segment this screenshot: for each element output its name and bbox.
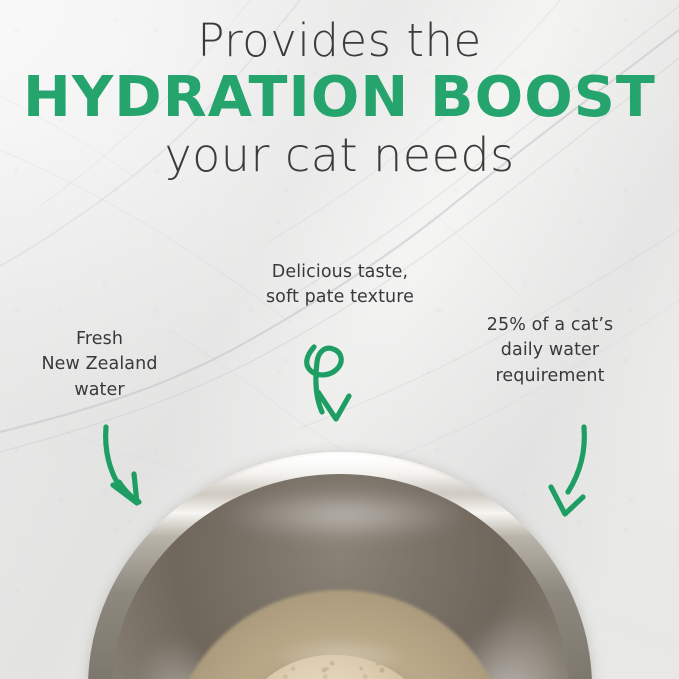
annotation-fresh-water-label: Fresh New Zealand water — [12, 327, 187, 403]
headline-line-2-accent: HYDRATION BOOST — [0, 70, 679, 126]
annotation-taste-texture-label: Delicious taste, soft pate texture — [235, 260, 445, 311]
bowl-sheen-top — [180, 480, 510, 550]
headline-line-3: your cat needs — [0, 132, 679, 178]
product-photo-bowl — [0, 440, 679, 679]
promo-image: Provides the HYDRATION BOOST your cat ne… — [0, 0, 679, 679]
annotation-daily-water-label: 25% of a cat’s daily water requirement — [460, 313, 640, 389]
headline-block: Provides the HYDRATION BOOST your cat ne… — [0, 18, 679, 178]
headline-line-1: Provides the — [0, 18, 679, 63]
